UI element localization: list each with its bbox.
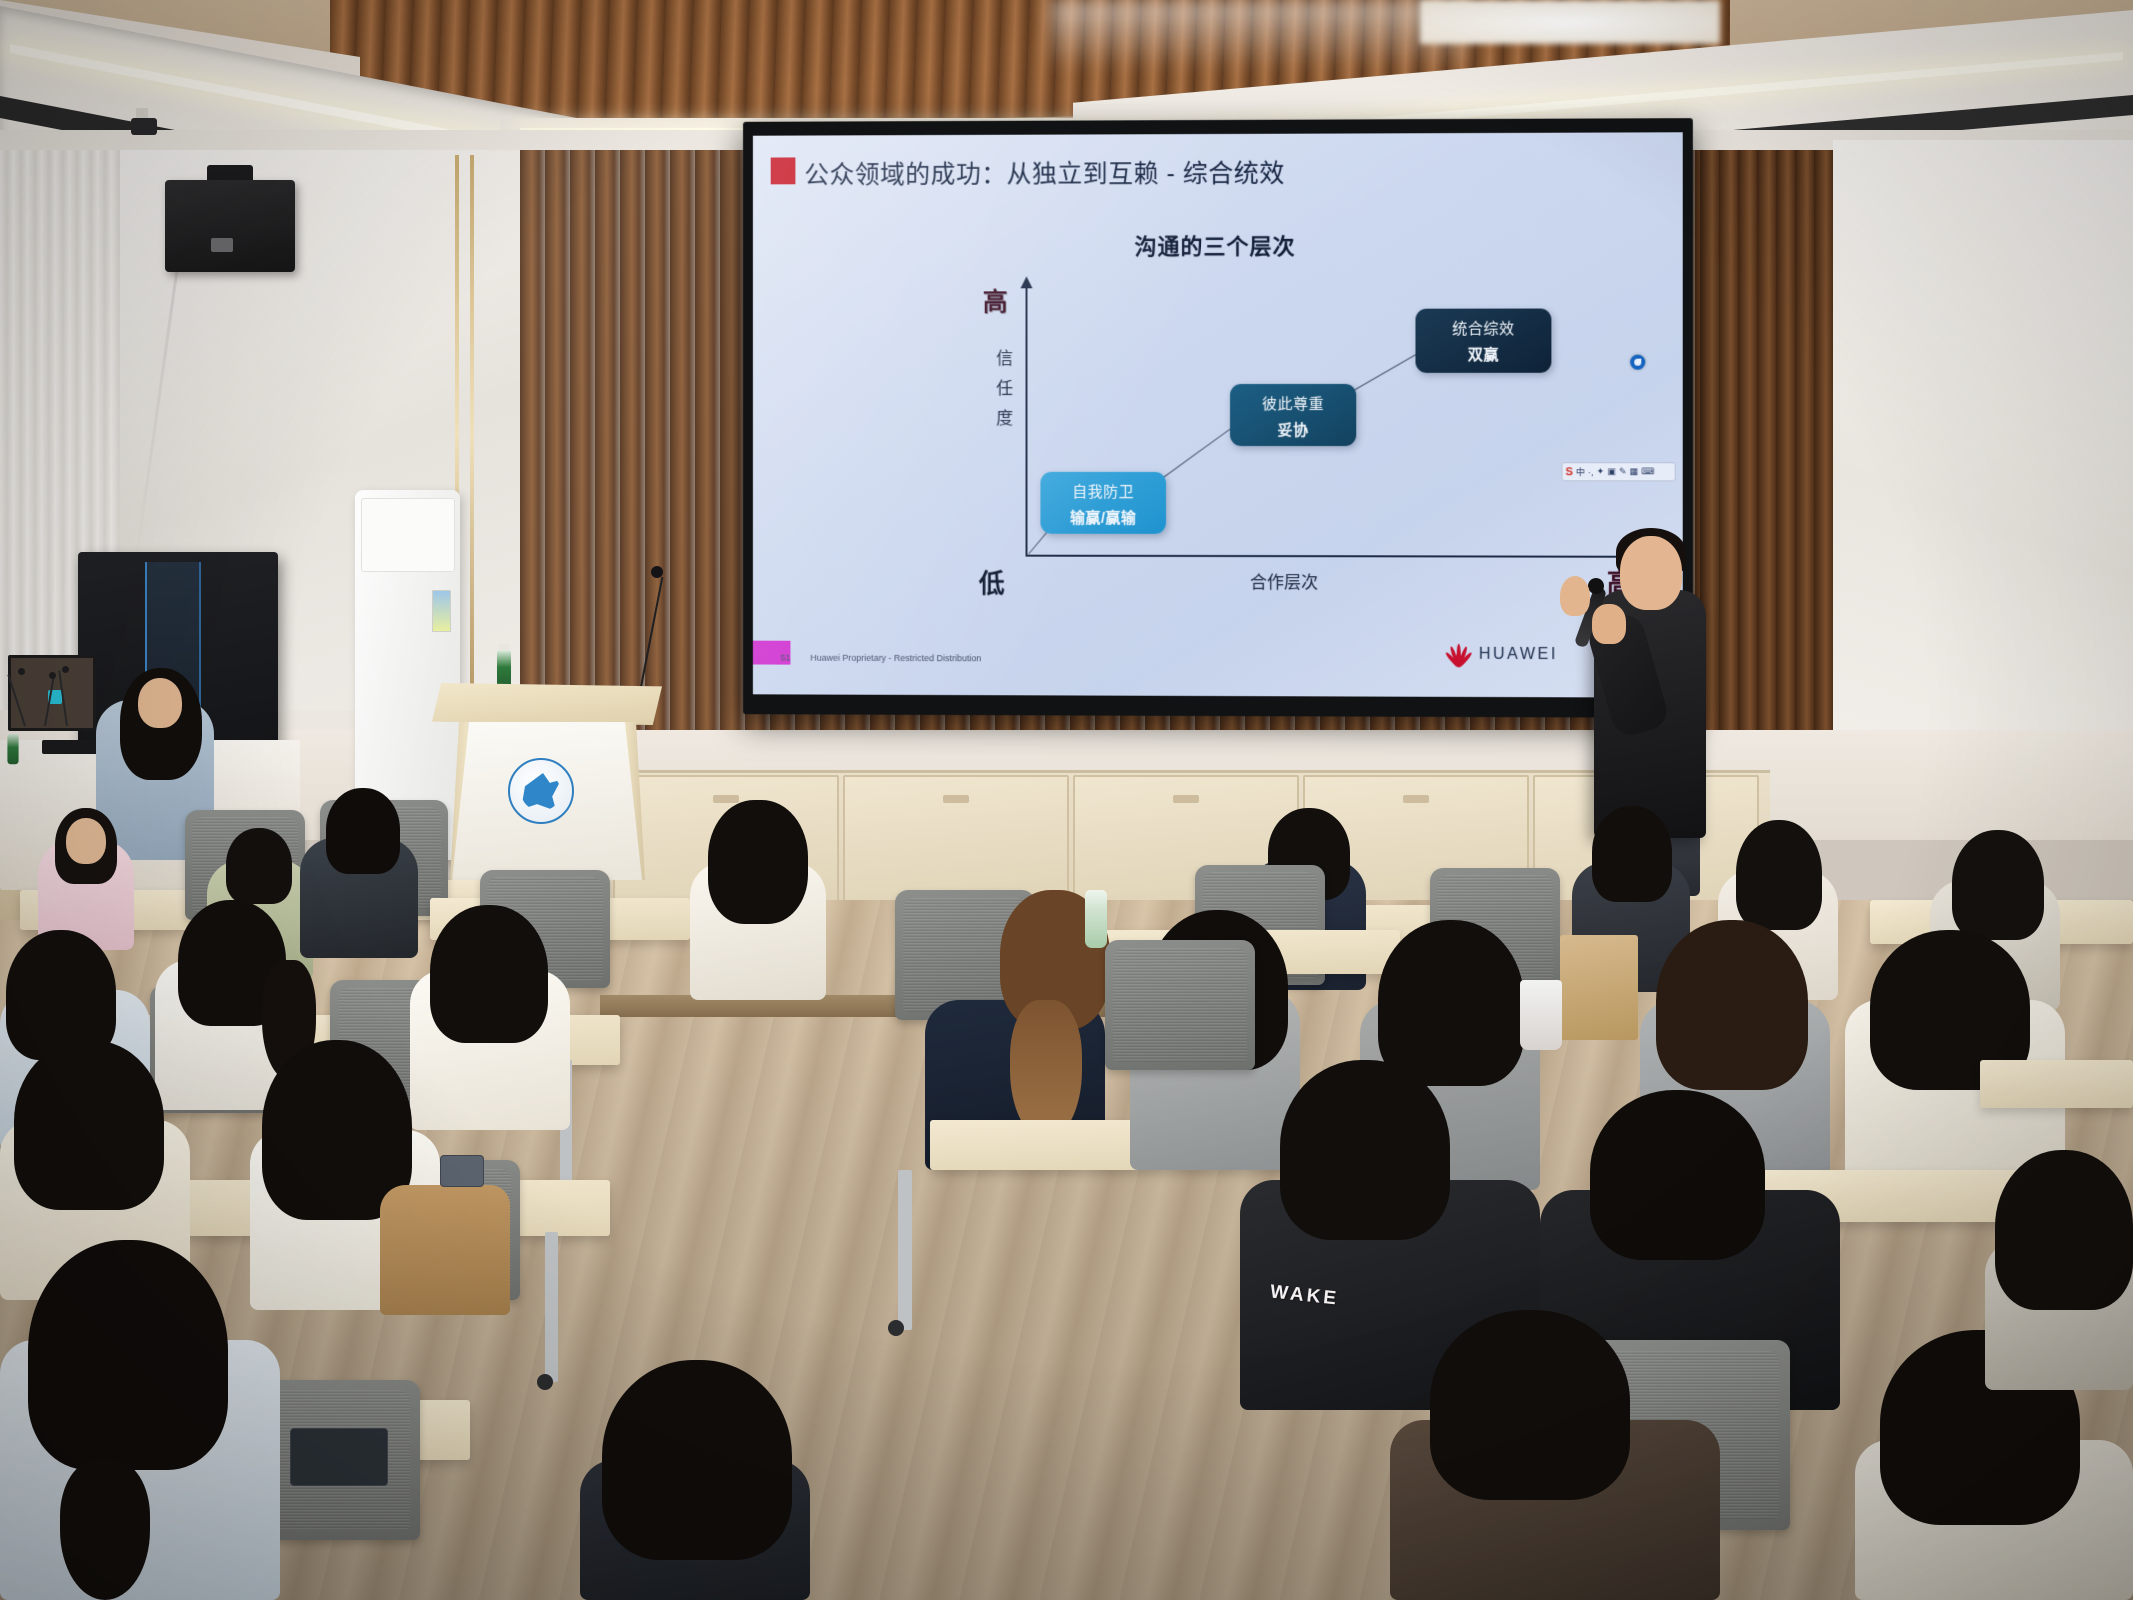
presentation-screen[interactable]: 公众领域的成功：从独立到互赖 - 综合统效 沟通的三个层次 高 信任度 低 合作… bbox=[743, 118, 1693, 718]
ime-toolbar[interactable]: S 中 ·, ✦ ▣ ✎ ▦ ⌨ bbox=[1561, 462, 1675, 481]
slide-surface: 公众领域的成功：从独立到互赖 - 综合统效 沟通的三个层次 高 信任度 低 合作… bbox=[753, 132, 1683, 697]
desk-leg bbox=[545, 1232, 558, 1382]
huawei-wordmark: HUAWEI bbox=[1479, 646, 1558, 664]
ime-screenshot-icon[interactable]: ▣ bbox=[1607, 466, 1616, 477]
ime-keyboard-icon[interactable]: ⌨ bbox=[1641, 466, 1654, 477]
ac-vent-panel bbox=[361, 498, 455, 572]
node3-line2: 双赢 bbox=[1415, 339, 1551, 365]
microphone-head bbox=[18, 668, 25, 675]
x-axis bbox=[1026, 555, 1628, 558]
ime-lang-icon[interactable]: 中 bbox=[1576, 465, 1585, 478]
huawei-flower-icon bbox=[1446, 643, 1472, 667]
smartphone[interactable] bbox=[440, 1155, 484, 1187]
water-bottle bbox=[1085, 890, 1107, 948]
huawei-logo: HUAWEI bbox=[1446, 643, 1558, 667]
desk-caster bbox=[888, 1320, 904, 1336]
desk-leg bbox=[898, 1170, 912, 1330]
presenter-gesturing-hand bbox=[1560, 576, 1590, 616]
presenter-head bbox=[1620, 536, 1682, 610]
bottle-cap bbox=[499, 644, 509, 651]
node-mutual-respect: 彼此尊重 妥协 bbox=[1230, 384, 1356, 446]
screen-glare bbox=[753, 132, 1683, 697]
marble-wall-panel-right bbox=[1833, 140, 2133, 760]
connector-node1-node2 bbox=[1162, 428, 1231, 479]
node2-line2: 妥协 bbox=[1230, 414, 1356, 440]
takeout-bag bbox=[1560, 935, 1638, 1040]
y-axis-high-label: 高 bbox=[983, 282, 1008, 318]
lecture-hall-scene: 公众领域的成功：从独立到互赖 - 综合统效 沟通的三个层次 高 信任度 低 合作… bbox=[0, 0, 2133, 1600]
university-crest-icon bbox=[508, 758, 574, 824]
ime-punct-icon[interactable]: ·, bbox=[1588, 467, 1594, 477]
slide-page-number: 51 bbox=[781, 653, 791, 663]
chair bbox=[1105, 940, 1255, 1070]
desk bbox=[1980, 1060, 2133, 1108]
slide-bullet-marker bbox=[771, 157, 796, 184]
node-self-defense: 自我防卫 输赢/赢输 bbox=[1040, 472, 1166, 534]
tablet[interactable] bbox=[290, 1428, 388, 1486]
chart-title: 沟通的三个层次 bbox=[753, 228, 1683, 262]
ac-energy-label bbox=[432, 590, 451, 632]
microphone-head bbox=[49, 672, 56, 679]
gold-trim-2 bbox=[470, 155, 474, 715]
security-camera-icon bbox=[131, 118, 157, 135]
water-bottle bbox=[7, 734, 18, 764]
node1-line1: 自我防卫 bbox=[1040, 472, 1166, 502]
ime-toolbox-icon[interactable]: ▦ bbox=[1630, 466, 1639, 477]
y-axis bbox=[1026, 286, 1028, 555]
node2-line1: 彼此尊重 bbox=[1230, 384, 1356, 414]
origin-low-label: 低 bbox=[979, 564, 1005, 601]
keyboard[interactable] bbox=[42, 740, 102, 754]
ceiling-skylight bbox=[1420, 0, 1720, 44]
presenter-hand-holding-mic bbox=[1592, 604, 1626, 644]
node-synergy: 统合综效 双赢 bbox=[1415, 309, 1551, 373]
drink-cup bbox=[1520, 980, 1562, 1050]
podium-microphone-head bbox=[651, 566, 663, 578]
slide-footer-notice: Huawei Proprietary - Restricted Distribu… bbox=[810, 653, 981, 663]
node3-line1: 统合综效 bbox=[1415, 309, 1551, 339]
microphone-head bbox=[62, 666, 69, 673]
podium-top bbox=[432, 683, 662, 725]
ceiling-highlight bbox=[1050, 0, 1470, 70]
wall-speaker bbox=[165, 180, 295, 272]
ime-handwrite-icon[interactable]: ✎ bbox=[1619, 466, 1627, 477]
water-bottle bbox=[497, 650, 511, 688]
node1-line2: 输赢/赢输 bbox=[1040, 502, 1166, 528]
ime-voice-icon[interactable]: ✦ bbox=[1597, 466, 1605, 477]
desk-caster bbox=[537, 1374, 553, 1390]
sogou-ime-icon[interactable]: S bbox=[1566, 466, 1573, 478]
y-axis-title: 信任度 bbox=[994, 344, 1016, 434]
slide-title: 公众领域的成功：从独立到互赖 - 综合统效 bbox=[804, 154, 1284, 191]
app-notification-icon[interactable] bbox=[1630, 355, 1645, 370]
x-axis-title: 合作层次 bbox=[1250, 568, 1318, 593]
